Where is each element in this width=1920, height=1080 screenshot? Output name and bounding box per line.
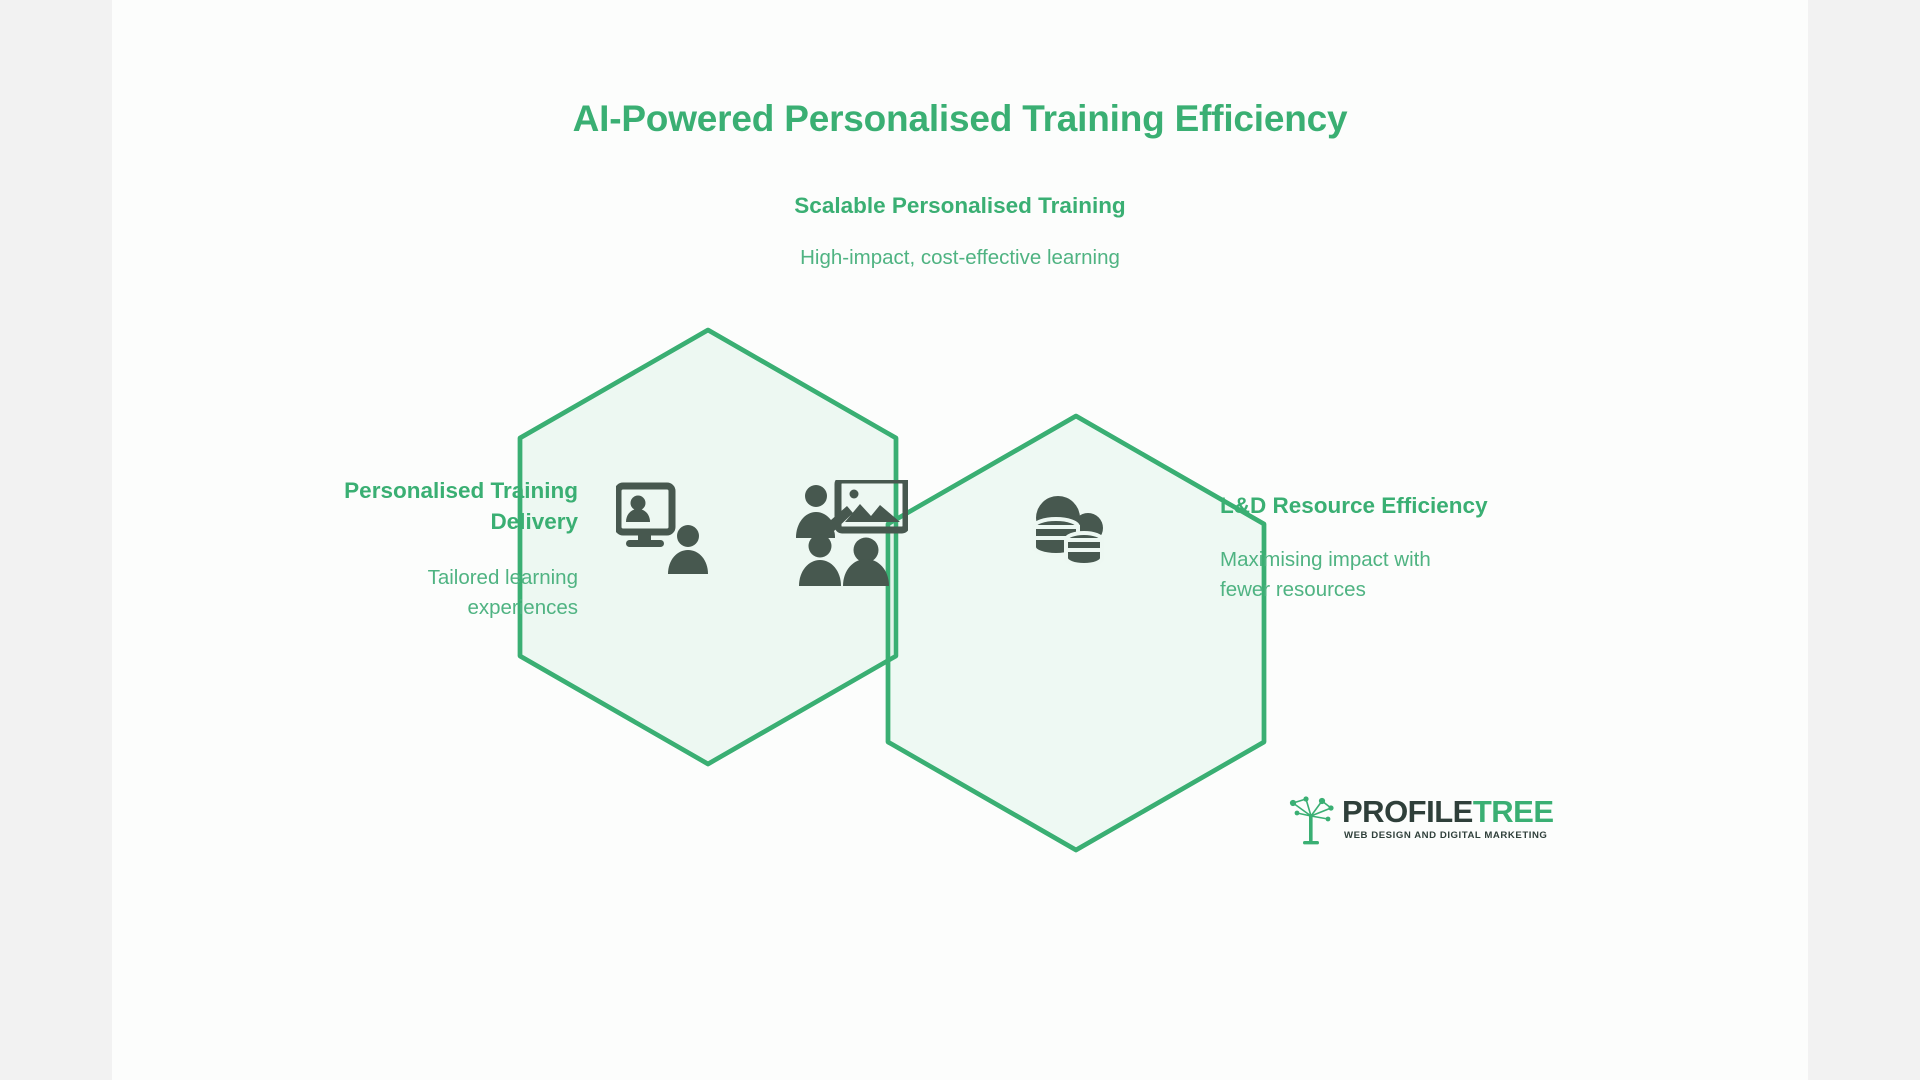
network-tree-icon bbox=[1284, 792, 1338, 846]
logo-word-profile: PROFILE bbox=[1342, 794, 1473, 829]
label-top-heading: Scalable Personalised Training bbox=[547, 190, 1373, 221]
label-right-heading: L&D Resource Efficiency bbox=[1220, 490, 1620, 521]
label-top-subtext: High-impact, cost-effective learning bbox=[800, 243, 1120, 273]
label-left-heading: Personalised Training Delivery bbox=[316, 475, 578, 537]
online-learning-person-screen-icon bbox=[616, 482, 712, 574]
label-left-subtext: Tailored learning experiences bbox=[378, 563, 578, 623]
profiletree-logo: PROFILETREE WEB DESIGN AND DIGITAL MARKE… bbox=[1284, 788, 1628, 848]
logo-wordmark: PROFILETREE bbox=[1342, 794, 1554, 830]
presentation-audience-icon bbox=[794, 480, 908, 586]
label-top-overlap: Scalable Personalised Training High-impa… bbox=[547, 190, 1373, 273]
logo-word-tree: TREE bbox=[1473, 794, 1554, 829]
page-title: AI-Powered Personalised Training Efficie… bbox=[112, 98, 1808, 140]
venn-diagram bbox=[520, 330, 1264, 850]
hexagon-right bbox=[888, 416, 1264, 850]
label-left: Personalised Training Delivery Tailored … bbox=[208, 475, 578, 623]
label-right: L&D Resource Efficiency Maximising impac… bbox=[1220, 490, 1620, 605]
coins-stack-icon bbox=[1028, 496, 1114, 572]
logo-tagline: WEB DESIGN AND DIGITAL MARKETING bbox=[1344, 830, 1547, 841]
hexagon-group bbox=[520, 330, 1264, 850]
slide-canvas: AI-Powered Personalised Training Efficie… bbox=[112, 0, 1808, 1080]
label-right-subtext: Maximising impact with fewer resources bbox=[1220, 545, 1484, 605]
page-frame: AI-Powered Personalised Training Efficie… bbox=[0, 0, 1920, 1080]
